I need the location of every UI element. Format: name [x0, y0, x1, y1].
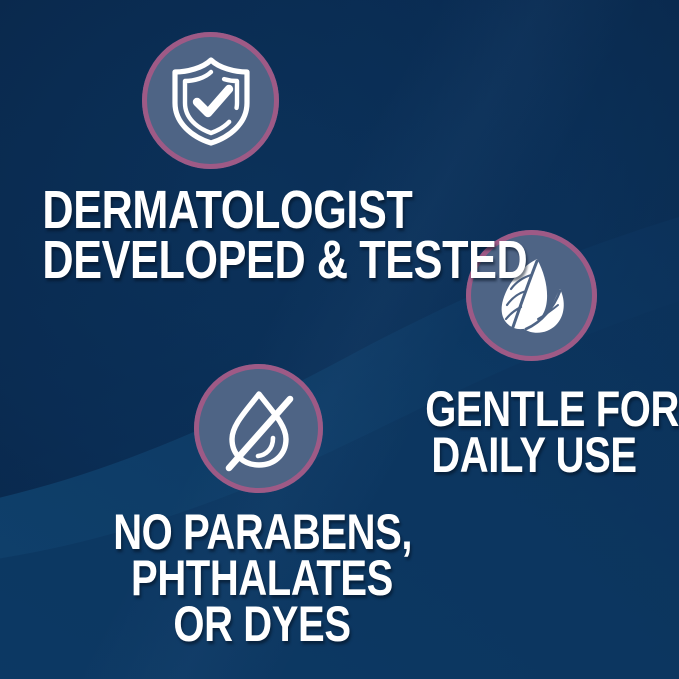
shield-check-icon	[167, 55, 255, 147]
no-droplet-icon	[216, 385, 302, 473]
benefit-text-free-from: NO PARABENS, PHTHALATES OR DYES	[113, 509, 411, 647]
benefit-text-dermatologist: DERMATOLOGIST DEVELOPED & TESTED	[42, 186, 381, 285]
benefit-badge-dermatologist	[142, 32, 279, 169]
headline-line: DERMATOLOGIST	[42, 186, 381, 236]
infographic-canvas: DERMATOLOGIST DEVELOPED & TESTED GENTLE …	[0, 0, 679, 679]
benefit-text-gentle: GENTLE FOR DAILY USE	[425, 386, 643, 478]
headline-line: DEVELOPED & TESTED	[42, 236, 381, 286]
headline-line: DAILY USE	[425, 432, 643, 478]
benefit-badge-free-from	[194, 364, 323, 493]
headline-line: OR DYES	[113, 601, 411, 647]
headline-line: NO PARABENS,	[113, 509, 411, 555]
headline-line: PHTHALATES	[113, 555, 411, 601]
headline-line: GENTLE FOR	[425, 386, 643, 432]
